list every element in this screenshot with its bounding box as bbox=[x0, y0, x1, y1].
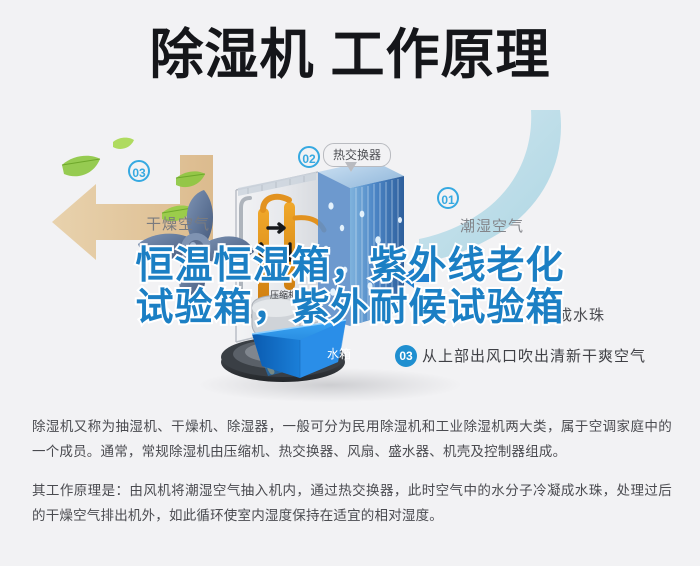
badge-moist-air: 01 bbox=[437, 187, 459, 209]
description-block: 除湿机又称为抽湿机、干燥机、除湿器，一般可分为民用除湿机和工业除湿机两大类，属于… bbox=[32, 414, 672, 528]
description-paragraph-1: 除湿机又称为抽湿机、干燥机、除湿器，一般可分为民用除湿机和工业除湿机两大类，属于… bbox=[32, 414, 672, 464]
label-dry-air: 干燥空气 bbox=[146, 213, 210, 234]
callout-tail-icon bbox=[346, 163, 356, 172]
label-water-tank: 水箱 bbox=[327, 345, 351, 362]
callout-heat-exchanger: 热交换器 bbox=[323, 143, 391, 167]
infographic-page: 除湿机 工作原理 bbox=[0, 0, 700, 566]
label-condensate: 成水珠 bbox=[557, 304, 605, 325]
badge-dry-air: 03 bbox=[128, 160, 150, 182]
page-title: 除湿机 工作原理 bbox=[149, 24, 550, 86]
caption-outlet: 从上部出风口吹出清新干爽空气 bbox=[422, 345, 646, 366]
badge-outlet: 03 bbox=[395, 345, 417, 367]
heat-exchanger-graphic bbox=[318, 160, 436, 326]
description-paragraph-2: 其工作原理是：由风机将潮湿空气抽入机内，通过热交换器，此时空气中的水分子冷凝成水… bbox=[32, 478, 672, 528]
page-title-wrap: 除湿机 工作原理 bbox=[0, 24, 700, 86]
label-moist-air: 潮湿空气 bbox=[460, 215, 524, 236]
badge-heat-exchanger: 02 bbox=[298, 146, 320, 168]
label-compressor: 压缩机 bbox=[270, 288, 297, 301]
moist-air-arrow-graphic bbox=[419, 110, 561, 263]
